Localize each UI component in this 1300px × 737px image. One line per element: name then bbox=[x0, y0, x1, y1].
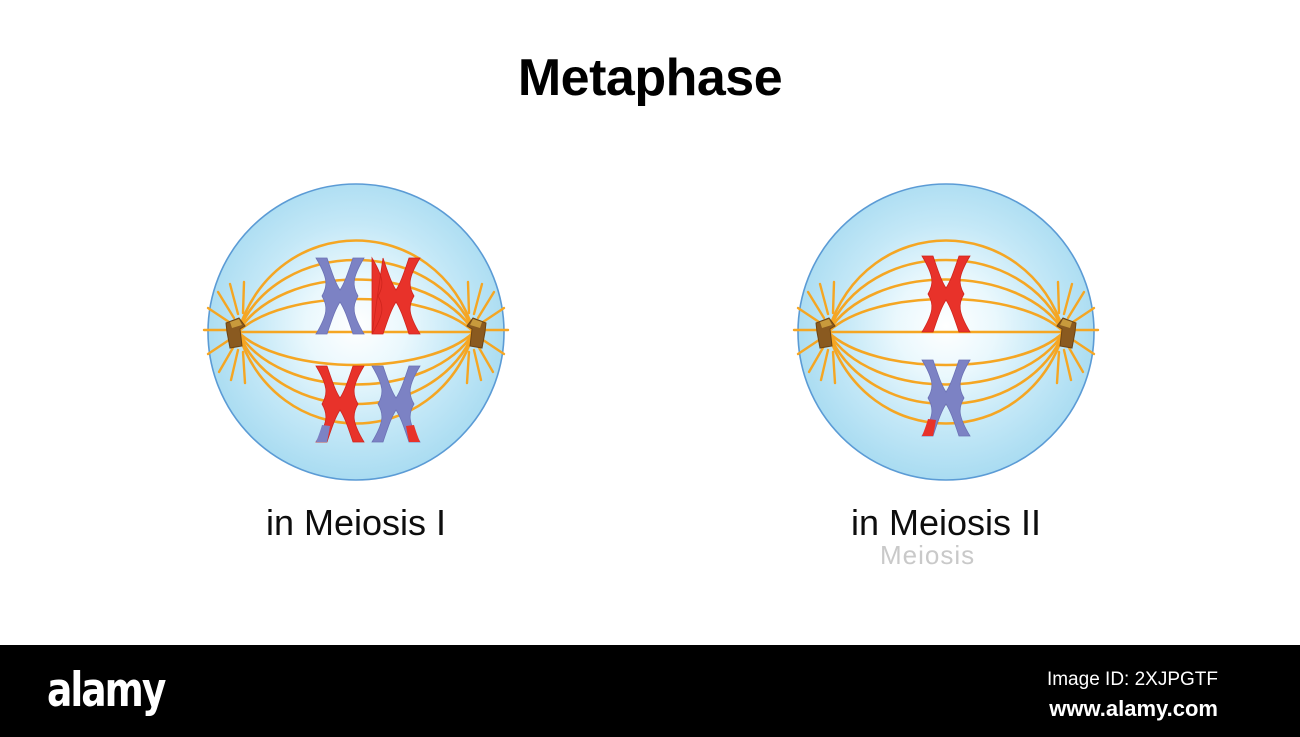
caption-meiosis-1: in Meiosis I bbox=[196, 502, 516, 544]
cell-diagram-meiosis-1 bbox=[196, 180, 516, 495]
page-title: Metaphase bbox=[0, 52, 1300, 104]
footer-bar: alamy Image ID: 2XJPGTF www.alamy.com bbox=[0, 645, 1300, 737]
figure-canvas: Metaphase bbox=[0, 0, 1300, 645]
cell-panel-meiosis-1: in Meiosis I bbox=[196, 180, 516, 560]
footer-attribution: Image ID: 2XJPGTF www.alamy.com bbox=[1047, 666, 1218, 723]
cell-diagram-meiosis-2 bbox=[786, 180, 1106, 495]
site-url-label: www.alamy.com bbox=[1047, 694, 1218, 724]
alamy-logo: alamy bbox=[47, 667, 164, 714]
image-id-label: Image ID: 2XJPGTF bbox=[1047, 666, 1218, 694]
cell-panel-meiosis-2: in Meiosis II bbox=[786, 180, 1106, 560]
caption-meiosis-2: in Meiosis II bbox=[786, 502, 1106, 544]
